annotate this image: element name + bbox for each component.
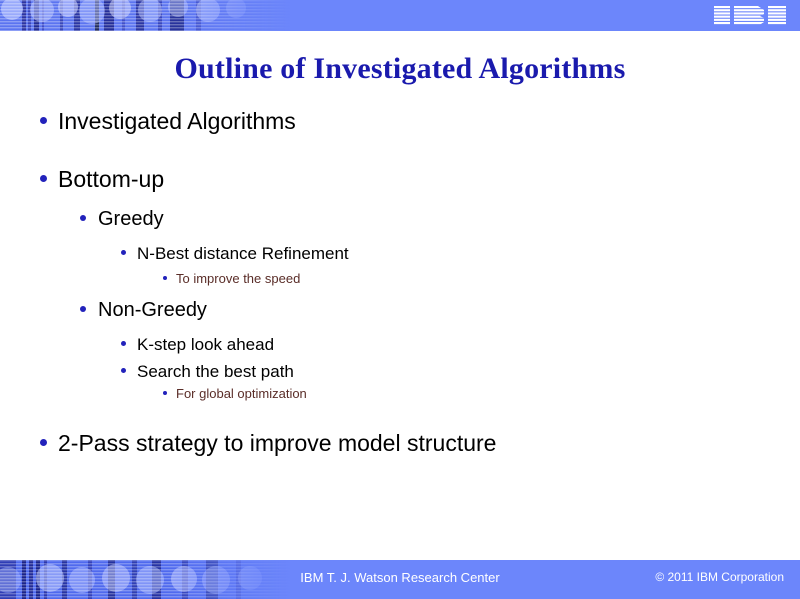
bullet-dot-icon xyxy=(40,117,47,124)
ibm-logo-svg xyxy=(714,6,786,26)
bullet-text: Greedy xyxy=(98,208,164,231)
bullet-item-level3: N-Best distance Refinement xyxy=(0,244,800,264)
spacer xyxy=(0,322,800,335)
ibm-logo xyxy=(714,6,786,26)
bullet-item-level1: Investigated Algorithms xyxy=(0,108,800,135)
bullet-dot-icon xyxy=(121,250,126,255)
slide-header-band xyxy=(0,0,800,31)
bullet-text: To improve the speed xyxy=(176,271,300,286)
bullet-dot-icon xyxy=(40,439,47,446)
bullet-dot-icon xyxy=(80,306,86,312)
bullet-text: N-Best distance Refinement xyxy=(137,244,349,264)
bullet-item-level3: K-step look ahead xyxy=(0,335,800,355)
bullet-item-level1: 2-Pass strategy to improve model structu… xyxy=(0,430,800,457)
bullet-text: Search the best path xyxy=(137,362,294,382)
bullet-item-level2: Greedy xyxy=(0,208,800,231)
bullet-item-level1: Bottom-up xyxy=(0,166,800,193)
bullet-dot-icon xyxy=(121,368,126,373)
slide-footer-band: IBM T. J. Watson Research Center © 2011 … xyxy=(0,560,800,599)
spacer xyxy=(0,355,800,362)
bullet-dot-icon xyxy=(121,341,126,346)
header-decoration-graphic xyxy=(0,0,290,31)
slide-title: Outline of Investigated Algorithms xyxy=(0,52,800,86)
bullet-item-level2: Non-Greedy xyxy=(0,299,800,322)
bullet-item-level4: For global optimization xyxy=(0,386,800,401)
spacer xyxy=(0,195,800,208)
bullet-text: Non-Greedy xyxy=(98,299,207,322)
bullet-text: Investigated Algorithms xyxy=(58,108,296,135)
bullet-text: Bottom-up xyxy=(58,166,164,193)
bullet-text: 2-Pass strategy to improve model structu… xyxy=(58,430,496,457)
bullet-item-level3: Search the best path xyxy=(0,362,800,382)
header-decoration-svg xyxy=(0,0,290,31)
bullet-dot-icon xyxy=(80,215,86,221)
bullet-dot-icon xyxy=(163,276,167,280)
bullet-list: Investigated Algorithms Bottom-up Greedy… xyxy=(0,108,800,459)
bullet-dot-icon xyxy=(40,175,47,182)
spacer xyxy=(0,286,800,299)
bullet-text: K-step look ahead xyxy=(137,335,274,355)
slide-canvas: Outline of Investigated Algorithms Inves… xyxy=(0,0,800,599)
spacer xyxy=(0,231,800,244)
bullet-item-level4: To improve the speed xyxy=(0,271,800,286)
bullet-dot-icon xyxy=(163,391,167,395)
footer-copyright-text: © 2011 IBM Corporation xyxy=(655,570,784,584)
bullet-text: For global optimization xyxy=(176,386,307,401)
spacer xyxy=(0,137,800,166)
spacer xyxy=(0,401,800,430)
spacer xyxy=(0,264,800,271)
